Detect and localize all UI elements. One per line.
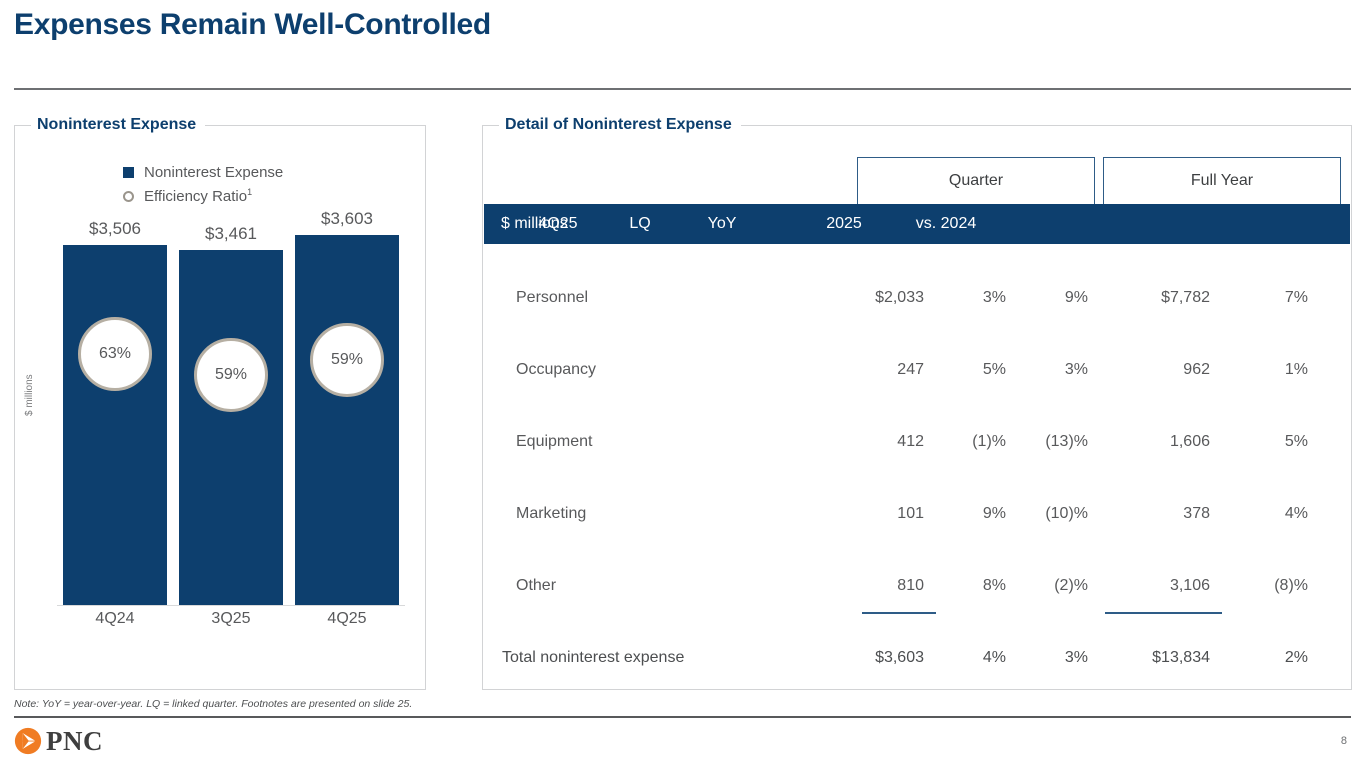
- footnote-note: Note: YoY = year-over-year. LQ = linked …: [14, 698, 412, 710]
- column-header-yoy: YoY: [662, 204, 782, 244]
- bar-4q25: 59%: [295, 235, 399, 605]
- detail-of-noninterest-expense-panel: Detail of Noninterest Expense Quarter Fu…: [482, 125, 1352, 690]
- table-body: Personnel$2,0333%9%$7,7827%Occupancy2475…: [484, 244, 1350, 688]
- bar-group: $3,506 63% $3,461 59% $3,603: [57, 231, 405, 605]
- table-row-total: Total noninterest expense$3,6034%3%$13,8…: [484, 640, 1350, 676]
- group-header-full-year: Full Year: [1103, 157, 1341, 204]
- table-row: Occupancy2475%3%9621%: [484, 352, 1350, 388]
- table-row: Other8108%(2)%3,106(8)%: [484, 568, 1350, 604]
- subtotal-rule-quarter: [862, 612, 936, 614]
- x-tick-4q25: 4Q25: [295, 610, 399, 628]
- efficiency-ratio-bubble-4q24: 63%: [78, 317, 152, 391]
- x-axis-line: [57, 605, 405, 606]
- chart-legend: Noninterest Expense Efficiency Ratio1: [123, 161, 283, 207]
- group-header-quarter: Quarter: [857, 157, 1095, 204]
- bar-value-label: $3,506: [63, 219, 167, 239]
- cell-col-vs-2024: 4%: [1178, 496, 1308, 532]
- row-label: Total noninterest expense: [502, 640, 832, 676]
- cell-col-yoy: (13)%: [958, 424, 1088, 460]
- table-panel-title: Detail of Noninterest Expense: [499, 115, 741, 135]
- cell-col-yoy: 3%: [958, 640, 1088, 676]
- cell-col-vs-2024: 1%: [1178, 352, 1308, 388]
- bar-column-4q25: $3,603 59%: [295, 231, 399, 605]
- bar-3q25: 59%: [179, 250, 283, 605]
- efficiency-ratio-bubble-3q25: 59%: [194, 338, 268, 412]
- legend-label-noninterest-expense: Noninterest Expense: [144, 164, 283, 181]
- slide-root: Expenses Remain Well-Controlled Noninter…: [0, 0, 1365, 768]
- pnc-wordmark: PNC: [46, 727, 103, 755]
- legend-square-icon: [123, 167, 134, 178]
- footer-divider: [14, 716, 1351, 718]
- bar-column-4q24: $3,506 63%: [63, 231, 167, 605]
- x-tick-4q24: 4Q24: [63, 610, 167, 628]
- bar-chart: Noninterest Expense Efficiency Ratio1 $ …: [15, 126, 425, 689]
- table-row: Marketing1019%(10)%3784%: [484, 496, 1350, 532]
- page-number: 8: [1341, 735, 1347, 747]
- cell-col-yoy: (10)%: [958, 496, 1088, 532]
- cell-col-vs-2024: 5%: [1178, 424, 1308, 460]
- cell-col-vs-2024: 7%: [1178, 280, 1308, 316]
- cell-col-yoy: 3%: [958, 352, 1088, 388]
- x-tick-3q25: 3Q25: [179, 610, 283, 628]
- page-title: Expenses Remain Well-Controlled: [14, 8, 491, 42]
- y-axis-label: $ millions: [24, 374, 35, 416]
- table-row: Personnel$2,0333%9%$7,7827%: [484, 280, 1350, 316]
- bar-value-label: $3,603: [295, 209, 399, 229]
- cell-col-vs-2024: (8)%: [1178, 568, 1308, 604]
- efficiency-ratio-bubble-4q25: 59%: [310, 323, 384, 397]
- bar-column-3q25: $3,461 59%: [179, 231, 283, 605]
- pnc-logo: PNC: [14, 727, 103, 755]
- pnc-circle-arrow-icon: [14, 727, 42, 755]
- cell-col-yoy: (2)%: [958, 568, 1088, 604]
- title-divider: [14, 88, 1351, 90]
- column-header-vs-2024: vs. 2024: [886, 204, 1006, 244]
- legend-item-efficiency-ratio: Efficiency Ratio1: [123, 185, 283, 207]
- cell-col-vs-2024: 2%: [1178, 640, 1308, 676]
- noninterest-expense-chart-panel: Noninterest Expense Noninterest Expense …: [14, 125, 426, 690]
- bar-value-label: $3,461: [179, 224, 283, 244]
- legend-ring-icon: [123, 191, 134, 202]
- plot-area: $3,506 63% $3,461 59% $3,603: [45, 231, 411, 631]
- legend-item-noninterest-expense: Noninterest Expense: [123, 161, 283, 183]
- legend-label-efficiency-ratio: Efficiency Ratio1: [144, 187, 252, 205]
- subtotal-rule-full-year: [1105, 612, 1222, 614]
- bar-4q24: 63%: [63, 245, 167, 605]
- cell-col-yoy: 9%: [958, 280, 1088, 316]
- table-row: Equipment412(1)%(13)%1,6065%: [484, 424, 1350, 460]
- x-axis-labels: 4Q24 3Q25 4Q25: [57, 607, 405, 631]
- table-header-row: $ millions 4Q25 LQ YoY 2025 vs. 2024: [484, 204, 1350, 244]
